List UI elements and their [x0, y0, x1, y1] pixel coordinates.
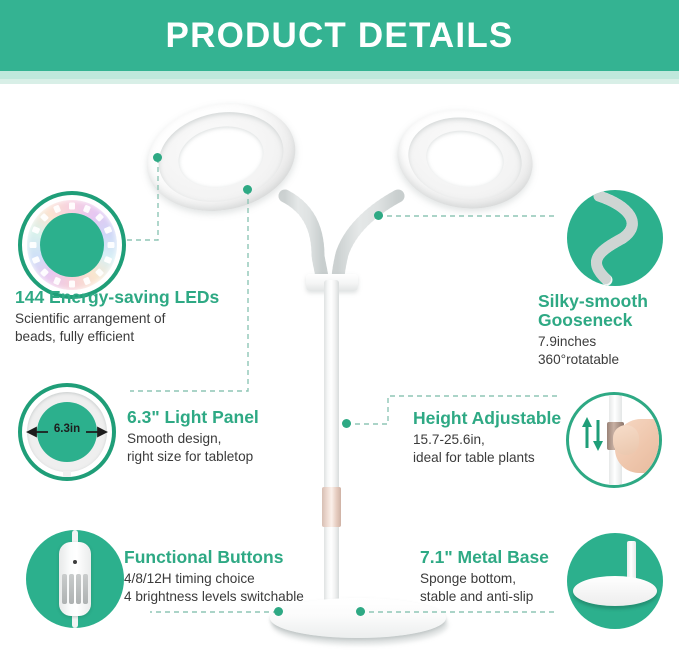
controller-button: [83, 574, 88, 604]
callout-metal-base-title: 7.1" Metal Base: [420, 548, 580, 567]
page-title: PRODUCT DETAILS: [166, 18, 514, 53]
up-down-arrow-icon: [569, 395, 662, 488]
anchor-dot-panel: [243, 185, 252, 194]
gooseneck-tube-icon: [567, 190, 663, 286]
led-bead-ring-icon: [18, 191, 126, 299]
base-icon-disc: [573, 576, 657, 606]
callout-gooseneck: Silky-smooth Gooseneck 7.9inches 360°rot…: [538, 292, 679, 369]
panel-nub: [63, 471, 71, 478]
callout-leds-desc: Scientific arrangement of beads, fully e…: [15, 310, 265, 346]
controller-button-row: [62, 574, 88, 604]
metal-base-icon: [567, 533, 663, 629]
callout-leds-title: 144 Energy-saving LEDs: [15, 288, 265, 307]
gooseneck-tube-shape: [567, 190, 663, 286]
callout-light-panel-desc: Smooth design, right size for tabletop: [127, 430, 327, 466]
panel-dimension-label: 6.3in: [22, 423, 112, 435]
callout-leds: 144 Energy-saving LEDs Scientific arrang…: [15, 288, 265, 346]
light-panel-diameter-icon: 6.3in: [18, 383, 116, 481]
callout-gooseneck-desc: 7.9inches 360°rotatable: [538, 333, 679, 369]
callout-metal-base: 7.1" Metal Base Sponge bottom, stable an…: [420, 548, 580, 606]
header-banner: PRODUCT DETAILS: [0, 0, 679, 71]
callout-functional-buttons: Functional Buttons 4/8/12H timing choice…: [124, 548, 374, 606]
callout-functional-buttons-title: Functional Buttons: [124, 548, 374, 567]
controller-button: [62, 574, 67, 604]
callout-height-adjustable-title: Height Adjustable: [413, 409, 573, 428]
controller-button: [76, 574, 81, 604]
callout-light-panel-title: 6.3" Light Panel: [127, 408, 327, 427]
callout-gooseneck-title: Silky-smooth Gooseneck: [538, 292, 679, 330]
anchor-dot-leds: [153, 153, 162, 162]
callout-height-adjustable-desc: 15.7-25.6in, ideal for table plants: [413, 431, 573, 467]
anchor-dot-base: [356, 607, 365, 616]
product-details-infographic: PRODUCT DETAILS: [0, 0, 679, 664]
callout-metal-base-desc: Sponge bottom, stable and anti-slip: [420, 570, 580, 606]
led-icon-center: [40, 213, 104, 277]
controller-led-dot: [73, 560, 77, 564]
anchor-dot-gooseneck: [374, 211, 383, 220]
anchor-dot-height: [342, 419, 351, 428]
height-adjust-collar: [322, 487, 341, 527]
callout-height-adjustable: Height Adjustable 15.7-25.6in, ideal for…: [413, 409, 573, 467]
anchor-dot-buttons: [274, 607, 283, 616]
controller-button: [69, 574, 74, 604]
callout-functional-buttons-desc: 4/8/12H timing choice 4 brightness level…: [124, 570, 374, 606]
hand-height-adjust-icon: [566, 392, 662, 488]
callout-light-panel: 6.3" Light Panel Smooth design, right si…: [127, 408, 327, 466]
header-accent-band: [0, 71, 679, 79]
inline-controller-icon: [26, 530, 124, 628]
